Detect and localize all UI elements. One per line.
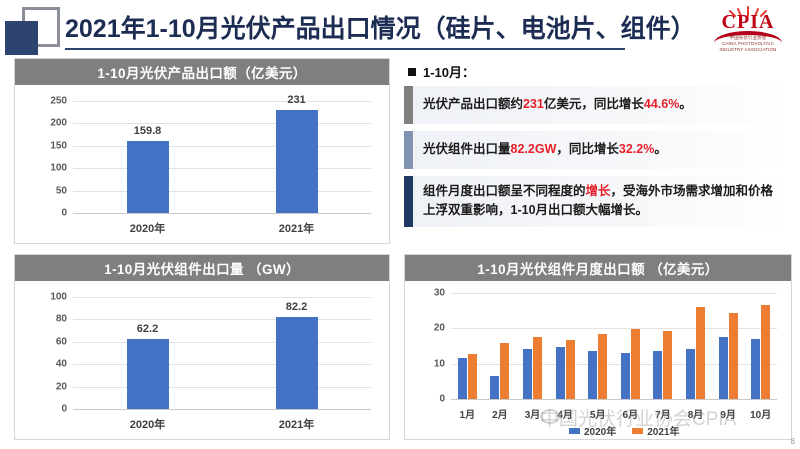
- bar: [523, 349, 532, 399]
- bar: [468, 354, 477, 399]
- statement-highlight: 32.2%: [619, 142, 654, 156]
- y-axis-tick-label: 250: [17, 96, 67, 107]
- bar-value-label: 82.2: [286, 301, 307, 313]
- chart-card-export-value: 1-10月光伏产品出口额（亿美元） 050100150200250159.823…: [14, 58, 390, 244]
- cpia-subtitle: 中国光伏行业协会 CHINA PHOTOVOLTAIC INDUSTRY ASS…: [710, 35, 786, 53]
- chart-card-monthly-export: 1-10月光伏组件月度出口额 （亿美元） 01020301月2月3月4月5月6月…: [404, 254, 792, 440]
- statement-text: 光伏组件出口量82.2GW，同比增长32.2%。: [413, 134, 675, 165]
- axis-baseline: [73, 409, 371, 410]
- statement-plain: 组件月度出口额呈不同程度的: [423, 184, 586, 198]
- y-axis-tick-label: 10: [407, 358, 445, 369]
- gridline: [73, 319, 371, 320]
- summary-statement-list: 光伏产品出口额约231亿美元，同比增长44.6%。光伏组件出口量82.2GW，同…: [404, 86, 792, 227]
- x-axis-category-label: 9月: [720, 406, 736, 421]
- slide: 2021年1-10月光伏产品出口情况（硅片、电池片、组件） CPIA 中国光伏行…: [0, 0, 800, 449]
- bar: [653, 351, 662, 399]
- x-axis-category-label: 2月: [492, 406, 508, 421]
- bar: [729, 313, 738, 399]
- chart-plot-export-value: 050100150200250159.82312020年2021年: [15, 85, 389, 245]
- legend-swatch: [632, 428, 643, 434]
- chart-title-module-volume: 1-10月光伏组件出口量 （GW）: [15, 255, 389, 281]
- cpia-subtitle-en: CHINA PHOTOVOLTAIC INDUSTRY ASSOCIATION: [710, 41, 786, 53]
- legend-label: 2020年: [584, 423, 616, 438]
- summary-statement: 组件月度出口额呈不同程度的增长，受海外市场需求增加和价格上浮双重影响，1-10月…: [404, 176, 792, 227]
- y-axis-tick-label: 20: [407, 323, 445, 334]
- y-axis-tick-label: 0: [17, 404, 67, 415]
- title-underline: [65, 48, 625, 50]
- legend-swatch: [569, 428, 580, 434]
- y-axis-tick-label: 0: [407, 394, 445, 405]
- bar: [490, 376, 499, 399]
- axis-baseline: [73, 213, 371, 214]
- y-axis-tick-label: 30: [407, 288, 445, 299]
- title-bar: 2021年1-10月光伏产品出口情况（硅片、电池片、组件） CPIA 中国光伏行…: [0, 0, 800, 55]
- x-axis-category-label: 4月: [557, 406, 573, 421]
- chart-title-monthly-export: 1-10月光伏组件月度出口额 （亿美元）: [405, 255, 791, 281]
- y-axis-tick-label: 80: [17, 314, 67, 325]
- x-axis-category-label: 2021年: [279, 416, 314, 432]
- bar: [598, 334, 607, 399]
- summary-panel: 1-10月： 光伏产品出口额约231亿美元，同比增长44.6%。光伏组件出口量8…: [404, 58, 792, 244]
- statement-highlight: 231: [523, 97, 544, 111]
- bar: [458, 358, 467, 399]
- statement-highlight: 增长: [586, 184, 611, 198]
- bar: [276, 110, 318, 213]
- chart-legend: 2020年2021年: [569, 423, 680, 438]
- bar: [663, 331, 672, 399]
- page-title: 2021年1-10月光伏产品出口情况（硅片、电池片、组件）: [65, 9, 696, 45]
- gridline: [73, 342, 371, 343]
- statement-plain: 光伏组件出口量: [423, 142, 511, 156]
- bar: [127, 339, 169, 409]
- bar: [556, 347, 565, 399]
- decorative-square-filled: [5, 21, 38, 55]
- x-axis-category-label: 2021年: [279, 220, 314, 236]
- summary-heading-label: 1-10月：: [423, 62, 475, 81]
- bar: [276, 317, 318, 409]
- legend-item: 2020年: [569, 423, 616, 438]
- statement-accent-bar: [404, 131, 413, 169]
- statement-highlight: 82.2GW: [511, 142, 557, 156]
- x-axis-category-label: 3月: [525, 406, 541, 421]
- bar-value-label: 62.2: [137, 323, 158, 335]
- bar: [588, 351, 597, 399]
- chart-card-module-volume: 1-10月光伏组件出口量 （GW） 02040608010062.282.220…: [14, 254, 390, 440]
- bar: [500, 343, 509, 399]
- summary-heading: 1-10月：: [408, 62, 792, 81]
- gridline: [73, 168, 371, 169]
- statement-highlight: 44.6%: [644, 97, 679, 111]
- x-axis-category-label: 1月: [460, 406, 476, 421]
- axis-baseline: [451, 399, 777, 400]
- x-axis-category-label: 8月: [688, 406, 704, 421]
- x-axis-category-label: 2020年: [130, 220, 165, 236]
- statement-text: 组件月度出口额呈不同程度的增长，受海外市场需求增加和价格上浮双重影响，1-10月…: [413, 176, 792, 227]
- gridline: [73, 146, 371, 147]
- x-axis-category-label: 6月: [623, 406, 639, 421]
- y-axis-tick-label: 100: [17, 163, 67, 174]
- statement-accent-bar: [404, 86, 413, 124]
- gridline: [73, 191, 371, 192]
- y-axis-tick-label: 0: [17, 208, 67, 219]
- y-axis-tick-label: 60: [17, 336, 67, 347]
- x-axis-category-label: 5月: [590, 406, 606, 421]
- statement-accent-bar: [404, 176, 413, 227]
- y-axis-tick-label: 100: [17, 292, 67, 303]
- legend-label: 2021年: [647, 423, 679, 438]
- y-axis-tick-label: 50: [17, 185, 67, 196]
- bar: [621, 353, 630, 399]
- statement-plain: 亿美元，同比增长: [544, 97, 644, 111]
- gridline: [73, 364, 371, 365]
- gridline: [451, 293, 777, 294]
- gridline: [73, 297, 371, 298]
- cpia-logo: CPIA 中国光伏行业协会 CHINA PHOTOVOLTAIC INDUSTR…: [710, 5, 786, 51]
- summary-statement: 光伏组件出口量82.2GW，同比增长32.2%。: [404, 131, 792, 169]
- square-bullet-icon: [408, 68, 416, 76]
- statement-plain: ，同比增长: [556, 142, 619, 156]
- gridline: [73, 123, 371, 124]
- statement-plain: 。: [679, 97, 692, 111]
- bar: [696, 307, 705, 399]
- statement-plain: 。: [654, 142, 667, 156]
- bar-value-label: 231: [287, 94, 305, 106]
- gridline: [73, 387, 371, 388]
- chart-title-export-value: 1-10月光伏产品出口额（亿美元）: [15, 59, 389, 85]
- chart-plot-monthly-export: 01020301月2月3月4月5月6月7月8月9月10月2020年2021年: [405, 281, 791, 441]
- bar: [761, 305, 770, 399]
- chart-plot-module-volume: 02040608010062.282.22020年2021年: [15, 281, 389, 441]
- statement-plain: 光伏产品出口额约: [423, 97, 523, 111]
- x-axis-category-label: 10月: [750, 406, 771, 421]
- bar: [533, 337, 542, 399]
- bar: [719, 337, 728, 399]
- statement-text: 光伏产品出口额约231亿美元，同比增长44.6%。: [413, 89, 700, 120]
- gridline: [73, 101, 371, 102]
- page-number: 8: [791, 437, 795, 446]
- y-axis-tick-label: 40: [17, 359, 67, 370]
- y-axis-tick-label: 20: [17, 381, 67, 392]
- x-axis-category-label: 7月: [655, 406, 671, 421]
- y-axis-tick-label: 200: [17, 118, 67, 129]
- bar-value-label: 159.8: [134, 125, 162, 137]
- bar: [127, 141, 169, 213]
- legend-item: 2021年: [632, 423, 679, 438]
- bar: [686, 349, 695, 399]
- summary-statement: 光伏产品出口额约231亿美元，同比增长44.6%。: [404, 86, 792, 124]
- x-axis-category-label: 2020年: [130, 416, 165, 432]
- bar: [751, 339, 760, 399]
- y-axis-tick-label: 150: [17, 140, 67, 151]
- bar: [631, 329, 640, 399]
- bar: [566, 340, 575, 399]
